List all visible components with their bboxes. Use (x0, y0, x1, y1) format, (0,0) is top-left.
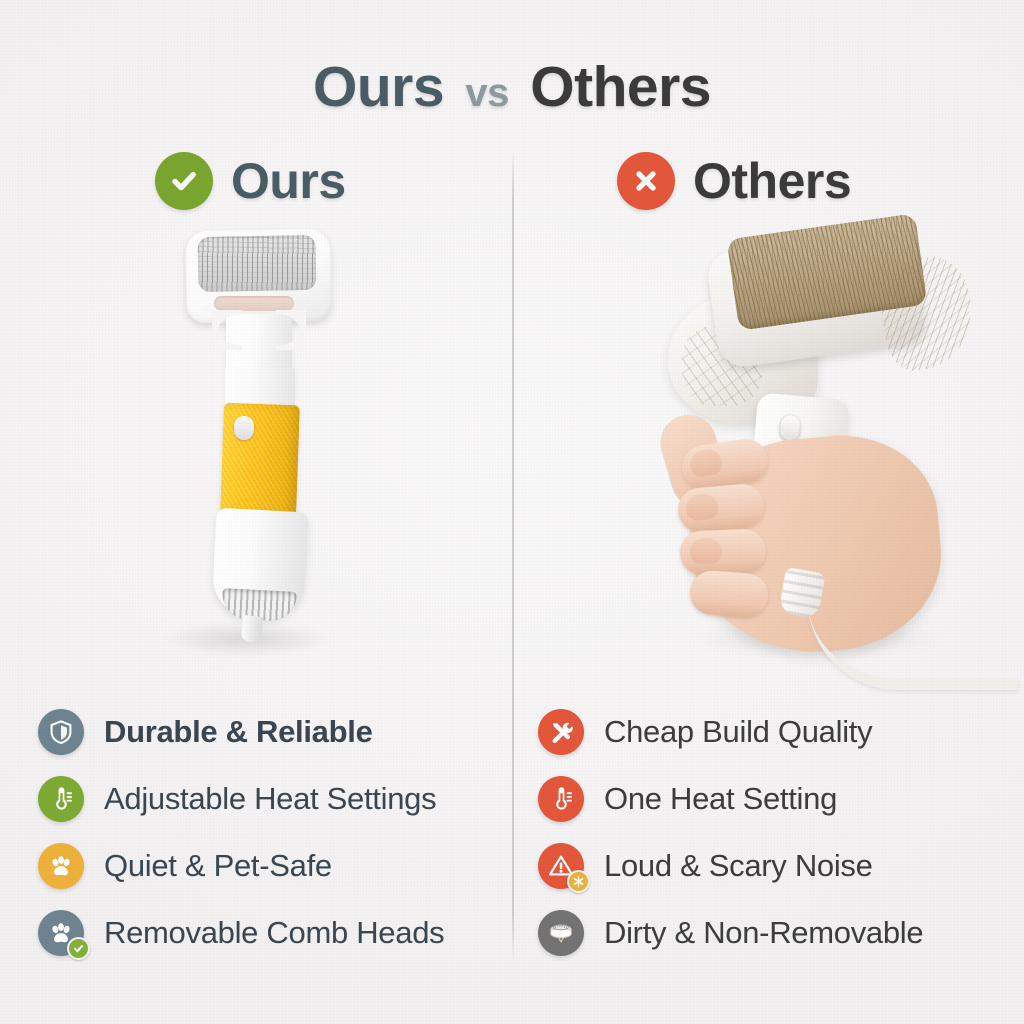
feature-label: Removable Comb Heads (104, 915, 444, 951)
check-circle-icon (155, 152, 213, 210)
title-ours: Ours (313, 55, 444, 119)
feature-label: Adjustable Heat Settings (104, 781, 436, 817)
hand-fingernail (690, 537, 723, 564)
infographic-page: Ours vs Others Ours Others (0, 0, 1024, 1024)
feature-list-ours: Durable & Reliable Adjustable Heat Setti… (38, 698, 493, 966)
product-barrel-top (225, 368, 295, 408)
column-header-others: Others (617, 152, 851, 210)
product-image-ours (20, 218, 492, 678)
paw-check-icon (38, 910, 84, 956)
feature-label: Dirty & Non-Removable (604, 915, 923, 951)
dirty-brush-icon (538, 910, 584, 956)
feature-row: Quiet & Pet-Safe (38, 832, 493, 899)
thermometer-icon (538, 776, 584, 822)
feature-row: Durable & Reliable (38, 698, 493, 765)
feature-row: Adjustable Heat Settings (38, 765, 493, 832)
feature-row: Dirty & Non-Removable (538, 899, 998, 966)
column-divider (512, 150, 514, 962)
feature-label: Loud & Scary Noise (604, 848, 873, 884)
column-header-ours: Ours (155, 152, 346, 210)
product-image-others (522, 218, 1014, 678)
hand-finger (689, 569, 770, 618)
paw-icon (38, 843, 84, 889)
feature-row: One Heat Setting (538, 765, 998, 832)
title-vs: vs (459, 71, 515, 115)
feature-row: Loud & Scary Noise (538, 832, 998, 899)
check-badge-icon (67, 937, 90, 960)
feature-label: Durable & Reliable (104, 714, 373, 750)
comb-pins (198, 235, 317, 292)
feature-list-others: Cheap Build Quality One Heat Setting (538, 698, 998, 966)
page-title: Ours vs Others (0, 54, 1024, 120)
shield-icon (38, 709, 84, 755)
cord-stub (241, 615, 264, 643)
column-header-label-others: Others (693, 152, 851, 210)
noise-badge-icon (567, 870, 590, 893)
tools-icon (538, 709, 584, 755)
x-circle-icon (617, 152, 675, 210)
column-header-label-ours: Ours (231, 152, 346, 210)
feature-row: Cheap Build Quality (538, 698, 998, 765)
title-others: Others (530, 55, 711, 119)
yellow-grip (220, 403, 300, 518)
thermometer-icon (38, 776, 84, 822)
power-cord (808, 600, 1018, 690)
feature-label: Quiet & Pet-Safe (104, 848, 332, 884)
comb-head-slot (214, 296, 294, 311)
feature-label: One Heat Setting (604, 781, 837, 817)
warning-icon (538, 843, 584, 889)
feature-label: Cheap Build Quality (604, 714, 872, 750)
power-button (234, 416, 254, 440)
feature-row: Removable Comb Heads (38, 899, 493, 966)
